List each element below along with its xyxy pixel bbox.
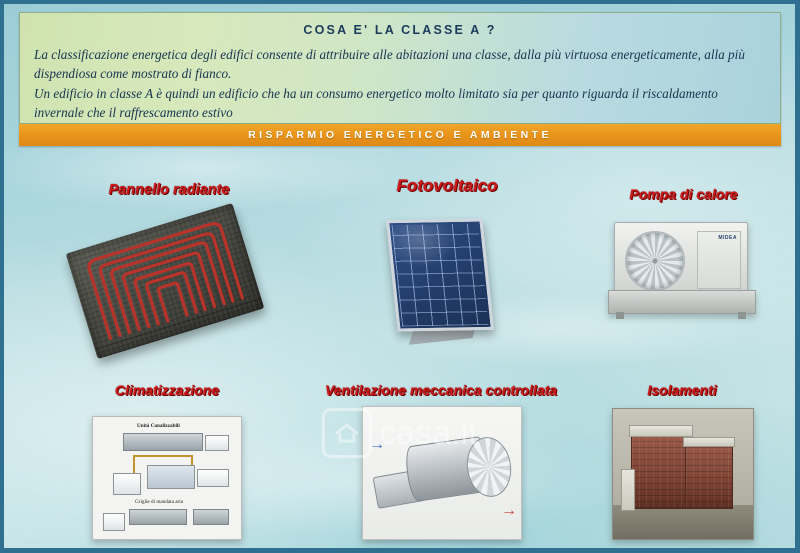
item-climatizzazione: Climatizzazione	[82, 382, 252, 398]
item-label-climatizzazione: Climatizzazione	[82, 382, 252, 398]
clima-outdoor-unit	[103, 513, 125, 531]
item-isolamenti: Isolamenti	[602, 382, 762, 398]
info-panel: COSA E' LA CLASSE A ? La classificazione…	[19, 12, 781, 124]
clima-manifold	[147, 465, 195, 489]
radiant-coil-icon	[66, 203, 265, 359]
clima-supply-grille	[129, 509, 187, 525]
item-label-ventilazione-meccanica: Ventilazione meccanica controllata	[272, 382, 610, 398]
radiant-floor-panel-icon	[66, 203, 265, 359]
clima-outlet-box	[205, 435, 229, 451]
item-label-pompa-di-calore: Pompa di calore	[596, 186, 771, 202]
heat-pump-foot	[616, 312, 624, 319]
item-label-fotovoltaico: Fotovoltaico	[362, 176, 532, 196]
mechanical-ventilation-unit-icon: → →	[362, 406, 522, 540]
wall-insulation-icon	[612, 408, 754, 540]
heat-pump-base	[608, 290, 756, 314]
heat-pump-foot	[738, 312, 746, 319]
iso-insulation-layer	[629, 425, 693, 437]
air-conditioning-diagram-icon: Unità Canalizzabili Griglie di mandata a…	[92, 416, 242, 540]
photovoltaic-module-icon	[386, 218, 494, 331]
clima-indoor-unit	[113, 473, 141, 495]
tagline-text: RISPARMIO ENERGETICO E AMBIENTE	[248, 129, 552, 141]
item-ventilazione-meccanica: Ventilazione meccanica controllata	[272, 382, 610, 398]
clima-pipe	[133, 455, 193, 457]
heat-pump-icon: MIDEA	[608, 222, 758, 320]
item-fotovoltaico: Fotovoltaico	[362, 176, 532, 196]
clima-diagram-caption: Griglie di mandata aria	[135, 499, 183, 505]
iso-insulation-layer	[621, 469, 635, 511]
clima-valve-box	[197, 469, 229, 487]
clima-diagram-title: Unità Canalizzabili	[137, 423, 180, 429]
heat-pump-brand-label: MIDEA	[718, 235, 737, 241]
clima-supply-grille	[193, 509, 229, 525]
iso-insulation-layer	[683, 437, 735, 447]
photovoltaic-panel-icon	[392, 219, 504, 344]
clima-duct-unit	[123, 433, 203, 451]
vmc-airflow-arrow-red: →	[501, 503, 517, 519]
heat-pump-fan-grille-icon	[625, 231, 685, 291]
iso-brick-block	[631, 433, 691, 509]
item-pannello-radiante: Pannello radiante	[64, 182, 274, 198]
house-glyph-icon	[333, 421, 359, 445]
info-paragraph-2: Un edificio in classe A è quindi un edif…	[34, 85, 766, 122]
tagline-banner: RISPARMIO ENERGETICO E AMBIENTE	[19, 124, 781, 146]
info-panel-title: COSA E' LA CLASSE A ?	[20, 23, 780, 37]
item-label-pannello-radiante: Pannello radiante	[64, 182, 274, 198]
poster-canvas: COSA E' LA CLASSE A ? La classificazione…	[0, 0, 800, 553]
heat-pump-body: MIDEA	[614, 222, 748, 296]
iso-brick-block	[685, 443, 733, 509]
item-pompa-di-calore: Pompa di calore	[596, 186, 771, 202]
vmc-airflow-arrow-blue: →	[369, 437, 385, 453]
info-panel-body: La classificazione energetica degli edif…	[34, 46, 766, 123]
item-label-isolamenti: Isolamenti	[602, 382, 762, 398]
info-paragraph-1: La classificazione energetica degli edif…	[34, 46, 766, 83]
